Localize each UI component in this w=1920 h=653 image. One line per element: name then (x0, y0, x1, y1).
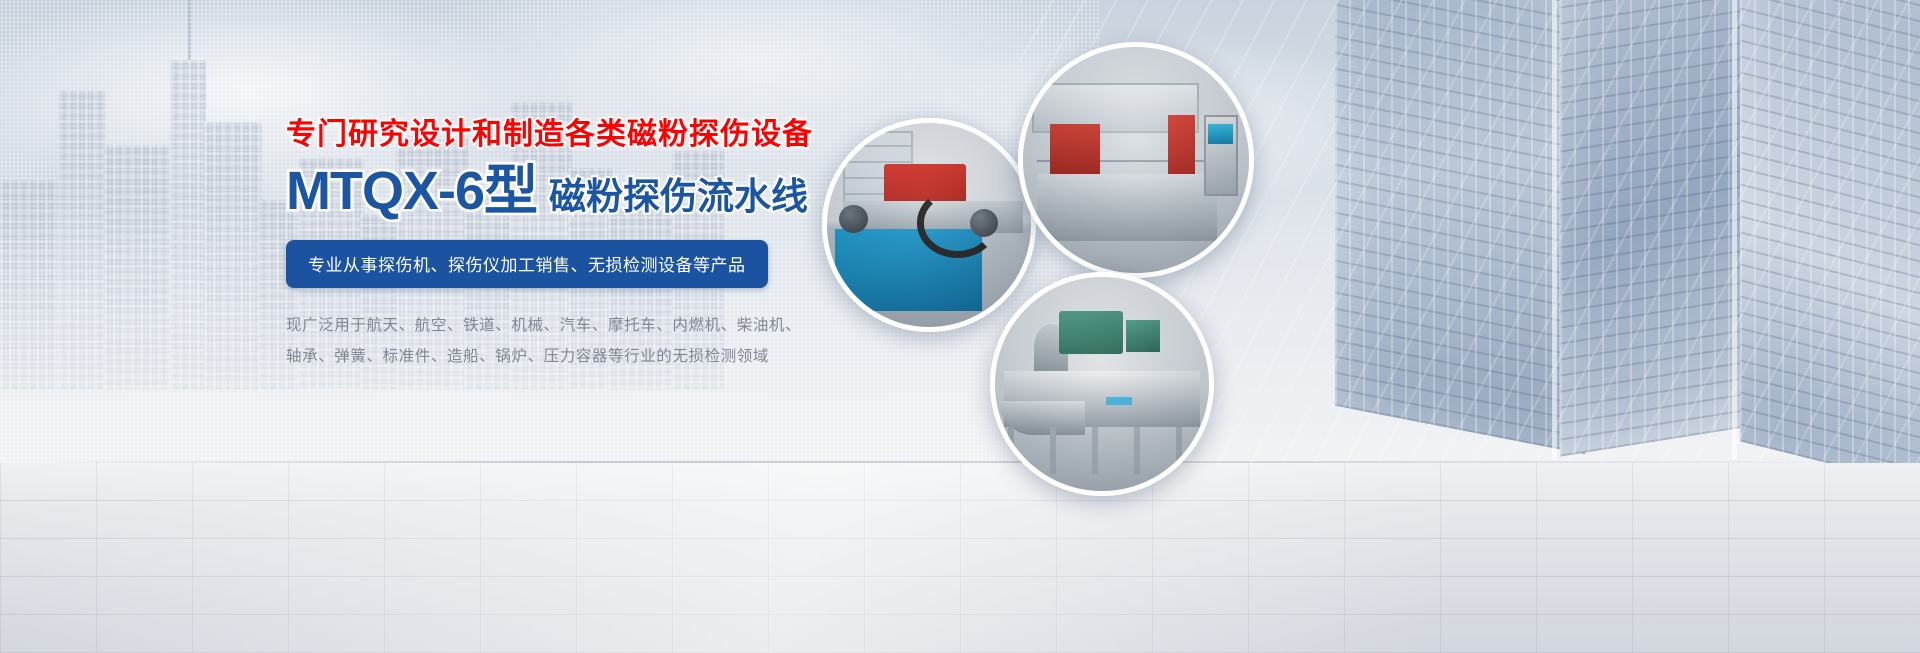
banner-copy-block: 专门研究设计和制造各类磁粉探伤设备 MTQX-6型 磁粉探伤流水线 专业从事探伤… (286, 120, 906, 372)
product-name-title: 磁粉探伤流水线 (549, 178, 808, 215)
services-badge[interactable]: 专业从事探伤机、探伤仪加工销售、无损检测设备等产品 (286, 240, 768, 288)
floor-reflection (0, 463, 1920, 653)
product-photo-3[interactable] (990, 272, 1214, 496)
banner-title-row: MTQX-6型 磁粉探伤流水线 (286, 164, 906, 218)
banner-description: 现广泛用于航天、航空、铁道、机械、汽车、摩托车、内燃机、柴油机、 轴承、弹簧、标… (286, 310, 906, 372)
product-photo-2[interactable] (1018, 42, 1254, 278)
plaza-floor (0, 463, 1920, 653)
product-photo-2-image (1023, 47, 1249, 273)
promo-banner: 专门研究设计和制造各类磁粉探伤设备 MTQX-6型 磁粉探伤流水线 专业从事探伤… (0, 0, 1920, 653)
description-line-1: 现广泛用于航天、航空、铁道、机械、汽车、摩托车、内燃机、柴油机、 (286, 310, 906, 341)
description-line-2: 轴承、弹簧、标准件、造船、锅炉、压力容器等行业的无损检测领域 (286, 341, 906, 372)
product-photo-3-image (995, 277, 1209, 491)
product-model-title: MTQX-6型 (286, 164, 537, 218)
banner-headline: 专门研究设计和制造各类磁粉探伤设备 (286, 120, 906, 150)
